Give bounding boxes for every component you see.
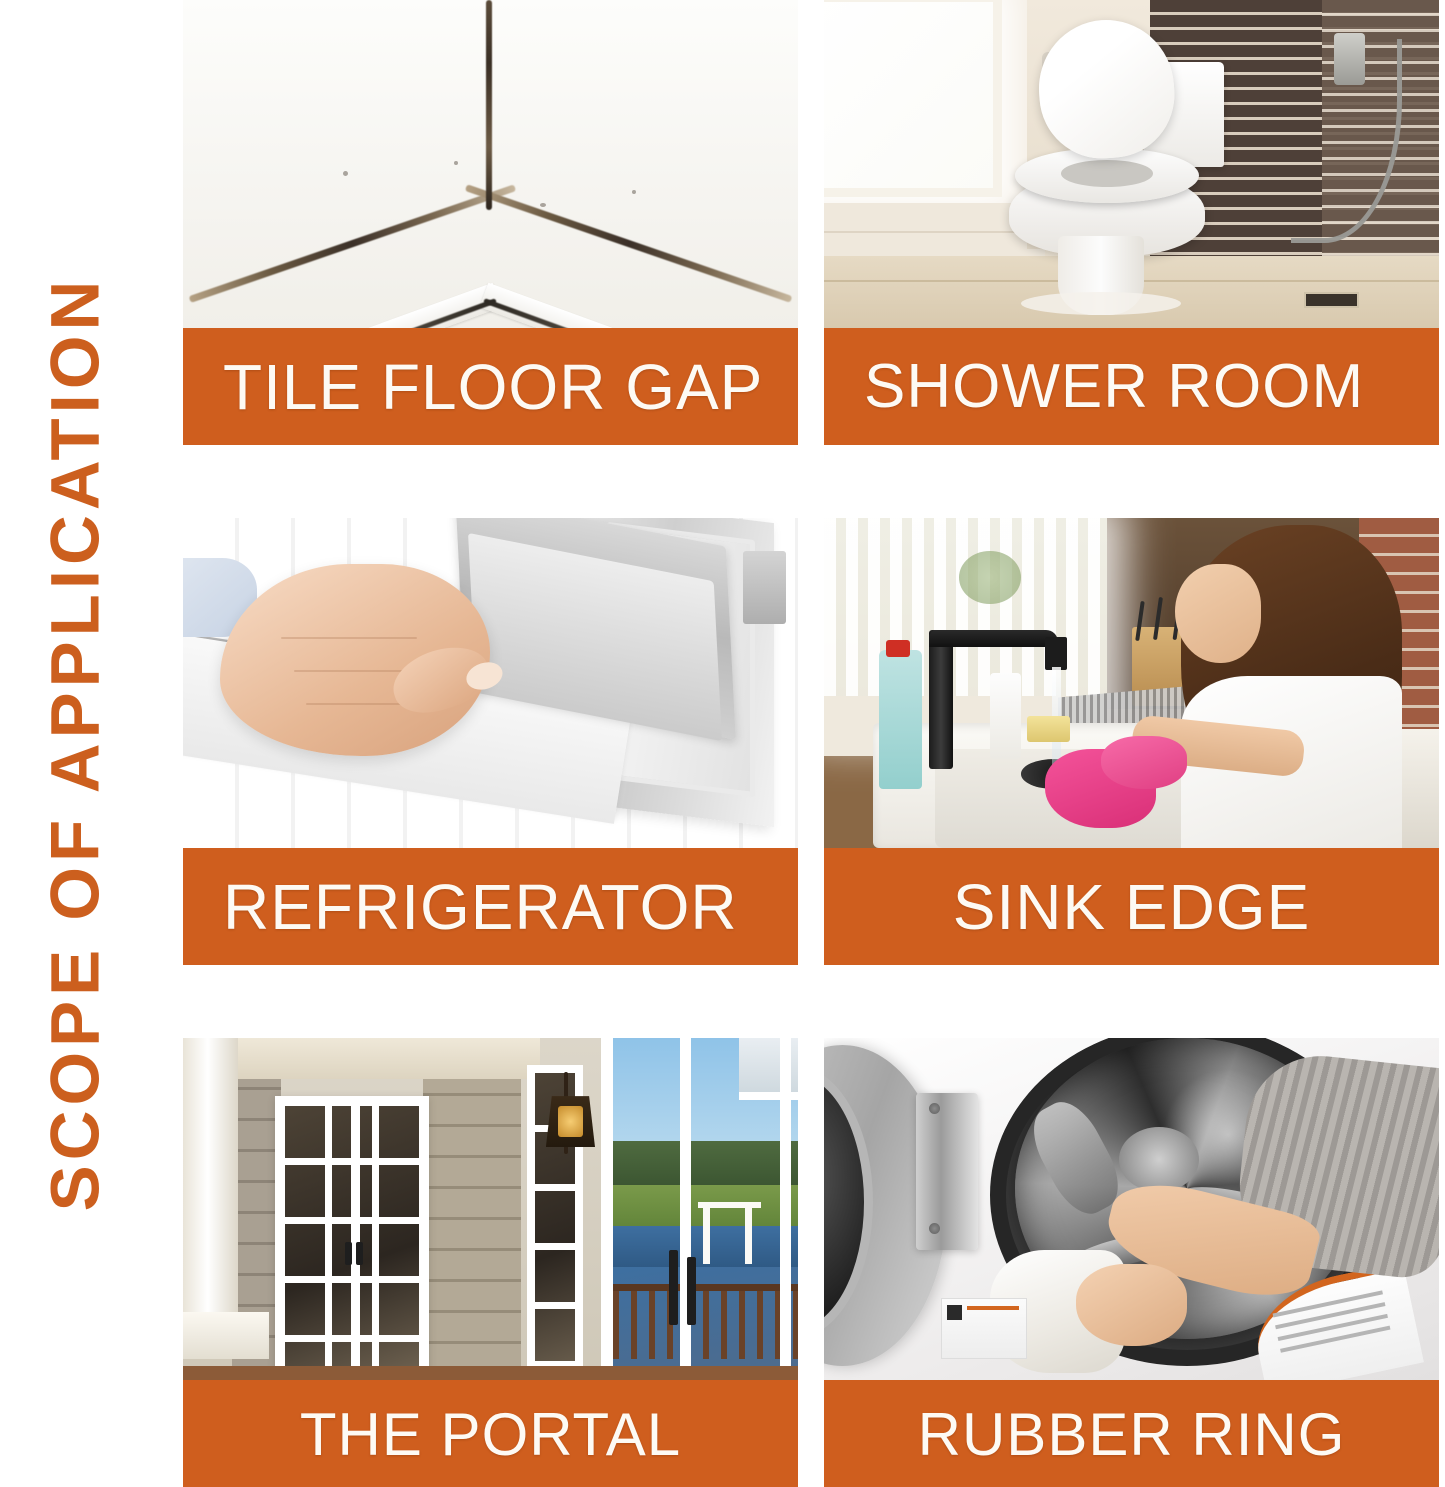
faucet-spout xyxy=(929,630,1058,647)
bathroom-window xyxy=(824,0,1002,197)
floor-drain xyxy=(1304,292,1359,308)
caption-text: SINK EDGE xyxy=(953,875,1311,939)
vertical-heading: SCOPE OF APPLICATION xyxy=(0,0,150,1487)
door-handle-right[interactable] xyxy=(356,1242,363,1265)
panel-grid: TILE FLOOR GAP xyxy=(183,0,1439,1487)
spray-bottle-trigger xyxy=(886,640,911,657)
slider-handle-right[interactable] xyxy=(687,1257,696,1325)
slider-frame-middle xyxy=(680,1038,691,1380)
caption-bar-sink-edge: SINK EDGE xyxy=(824,848,1439,965)
reflected-treeline xyxy=(613,1141,798,1189)
slider-frame-right xyxy=(780,1038,791,1380)
panel-rubber-ring[interactable]: RUBBER RING xyxy=(824,1038,1439,1487)
faucet-column xyxy=(929,630,954,769)
grout-line-upper-right xyxy=(465,184,793,303)
spray-bottle xyxy=(879,650,922,789)
caption-text: RUBBER RING xyxy=(918,1405,1346,1465)
fridge-handle xyxy=(743,551,786,624)
lantern-light xyxy=(558,1106,583,1137)
door-threshold xyxy=(183,1366,798,1380)
warning-label-left xyxy=(941,1298,1027,1360)
panel-refrigerator[interactable]: REFRIGERATOR xyxy=(183,518,798,965)
photo-refrigerator xyxy=(183,518,798,848)
caption-bar-the-portal: THE PORTAL xyxy=(183,1380,798,1487)
caption-text: TILE FLOOR GAP xyxy=(223,355,763,419)
mould-speck xyxy=(540,203,546,207)
caption-text: THE PORTAL xyxy=(300,1405,681,1465)
finger-crease xyxy=(306,703,411,705)
grout-line-vertical xyxy=(486,0,492,210)
photo-the-portal xyxy=(183,1038,798,1380)
baseboard-left xyxy=(192,283,501,328)
grout-line-upper-left xyxy=(188,184,516,303)
caption-bar-tile-floor-gap: TILE FLOOR GAP xyxy=(183,328,798,445)
caption-bar-rubber-ring: RUBBER RING xyxy=(824,1380,1439,1487)
finger-crease xyxy=(281,637,416,639)
toilet-base-shadow xyxy=(1021,292,1181,315)
mould-speck xyxy=(454,161,458,165)
drum-centre-hub xyxy=(1119,1127,1199,1192)
caption-text: SHOWER ROOM xyxy=(864,356,1364,418)
panel-shower-room[interactable]: SHOWER ROOM xyxy=(824,0,1439,445)
porch-column xyxy=(183,1038,238,1318)
soap-dispenser xyxy=(990,673,1021,759)
hinge-screw xyxy=(929,1103,940,1114)
door-mullion xyxy=(351,1106,360,1366)
deck-railing xyxy=(613,1284,798,1359)
pink-rubber-glove-second xyxy=(1101,736,1187,789)
reflected-pergola xyxy=(698,1202,761,1264)
hinge-screw xyxy=(929,1223,940,1234)
vertical-heading-text: SCOPE OF APPLICATION xyxy=(36,276,115,1212)
finger-crease xyxy=(294,670,417,672)
door-hinge xyxy=(916,1093,978,1250)
photo-tile-floor-gap xyxy=(183,0,798,328)
bidet-sprayer xyxy=(1334,33,1365,85)
sponge xyxy=(1027,716,1070,742)
faucet-outlet xyxy=(1045,637,1067,670)
column-base xyxy=(183,1312,269,1360)
hand-holding-cloth xyxy=(1076,1264,1187,1346)
caption-text: REFRIGERATOR xyxy=(223,875,738,939)
photo-rubber-ring xyxy=(824,1038,1439,1380)
sliding-glass-door[interactable] xyxy=(601,1038,798,1380)
photo-shower-room xyxy=(824,0,1439,328)
panel-sink-edge[interactable]: SINK EDGE xyxy=(824,518,1439,965)
caption-bar-refrigerator: REFRIGERATOR xyxy=(183,848,798,965)
photo-sink-edge xyxy=(824,518,1439,848)
window-plant xyxy=(959,551,1021,604)
mould-speck xyxy=(632,190,636,194)
door-handle-left[interactable] xyxy=(345,1242,352,1265)
french-doors[interactable] xyxy=(275,1096,429,1376)
shingle-siding-middle xyxy=(423,1065,521,1380)
sheer-curtain xyxy=(824,518,1107,723)
slider-handle-left[interactable] xyxy=(669,1250,678,1325)
panel-the-portal[interactable]: THE PORTAL xyxy=(183,1038,798,1487)
baseboard-right xyxy=(480,283,789,328)
panel-tile-floor-gap[interactable]: TILE FLOOR GAP xyxy=(183,0,798,445)
mould-speck xyxy=(343,171,348,176)
scope-of-application-infographic: SCOPE OF APPLICATION TILE FLOOR GAP xyxy=(0,0,1445,1487)
caption-bar-shower-room: SHOWER ROOM xyxy=(824,328,1439,445)
